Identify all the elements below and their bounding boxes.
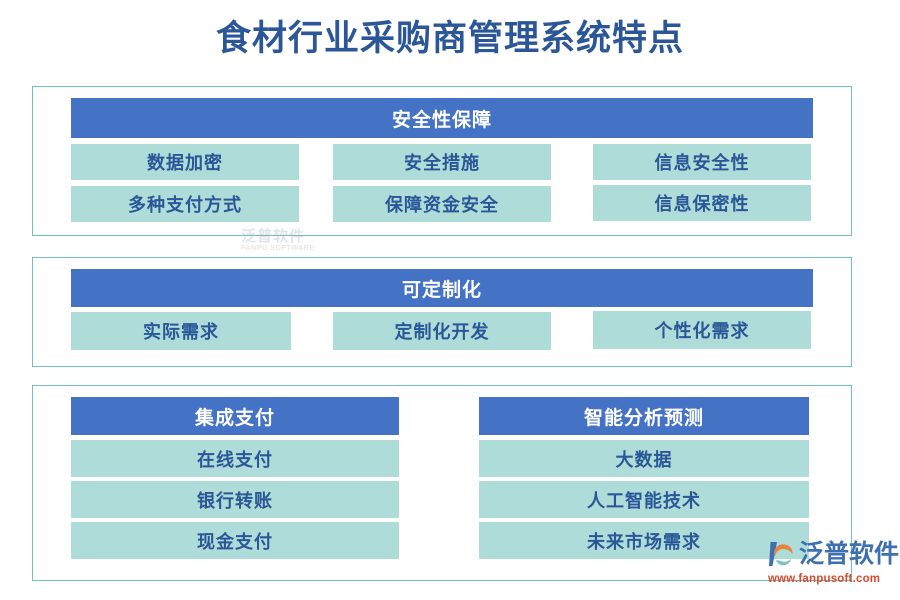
fanpu-logo-icon — [766, 539, 796, 569]
item-chip[interactable]: 多种支付方式 — [71, 186, 299, 222]
item-chip[interactable]: 实际需求 — [71, 312, 291, 350]
item-chip[interactable]: 银行转账 — [71, 481, 399, 518]
item-chip[interactable]: 个性化需求 — [593, 311, 811, 349]
item-chip[interactable]: 现金支付 — [71, 522, 399, 559]
section-customizable: 可定制化 实际需求 定制化开发 个性化需求 — [32, 257, 852, 367]
item-chip[interactable]: 大数据 — [479, 440, 809, 477]
item-chip[interactable]: 定制化开发 — [333, 312, 551, 350]
section-header-intelligent-analysis: 智能分析预测 — [479, 397, 809, 435]
brand-url: www.fanpusoft.com — [768, 573, 894, 585]
item-chip[interactable]: 保障资金安全 — [333, 186, 551, 222]
item-chip[interactable]: 信息保密性 — [593, 185, 811, 221]
inline-watermark: 泛普软件 FANPU SOFTWARE — [241, 229, 337, 252]
item-chip[interactable]: 安全措施 — [333, 144, 551, 180]
item-chip[interactable]: 信息安全性 — [593, 144, 811, 180]
brand-logo: 泛普软件 www.fanpusoft.com — [766, 536, 894, 592]
item-chip[interactable]: 在线支付 — [71, 440, 399, 477]
section-header-security: 安全性保障 — [71, 98, 813, 138]
section-security: 安全性保障 数据加密 多种支付方式 安全措施 保障资金安全 信息安全性 信息保密… — [32, 86, 852, 236]
item-chip[interactable]: 未来市场需求 — [479, 522, 809, 559]
item-chip[interactable]: 人工智能技术 — [479, 481, 809, 518]
section-header-customizable: 可定制化 — [71, 269, 813, 307]
page-title: 食材行业采购商管理系统特点 — [0, 0, 900, 56]
item-chip[interactable]: 数据加密 — [71, 144, 299, 180]
inline-watermark-cn: 泛普软件 — [241, 229, 337, 245]
section-payment-and-analytics: 集成支付 在线支付 银行转账 现金支付 智能分析预测 大数据 人工智能技术 未来… — [32, 385, 852, 581]
inline-watermark-en: FANPU SOFTWARE — [241, 245, 337, 252]
section-header-integrated-payment: 集成支付 — [71, 397, 399, 435]
brand-name: 泛普软件 — [799, 542, 899, 567]
